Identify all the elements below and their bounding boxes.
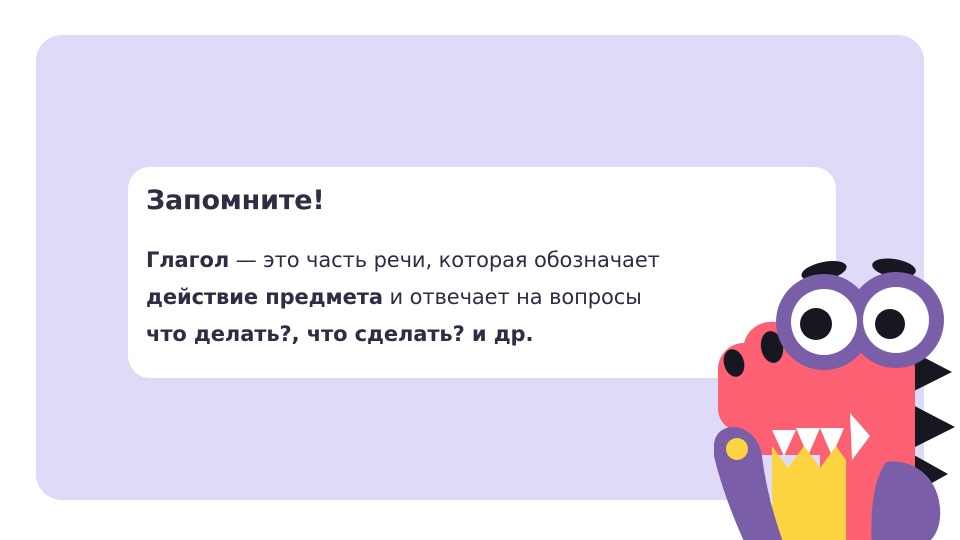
- slide-canvas: Запомните! Глагол — это часть речи, кото…: [0, 0, 960, 540]
- body-line-2: действие предмета и отвечает на вопросы: [146, 279, 818, 316]
- card-inner: Запомните! Глагол — это часть речи, кото…: [146, 186, 818, 353]
- body-line-1: Глагол — это часть речи, которая обознач…: [146, 242, 818, 279]
- card-heading: Запомните!: [146, 186, 818, 216]
- body-line-1-rest: — это часть речи, которая обозначает: [229, 248, 660, 272]
- content-card: Запомните! Глагол — это часть речи, кото…: [128, 167, 836, 378]
- body-line-3-bold: что делать?, что сделать? и др.: [146, 322, 533, 346]
- body-line-2-rest: и отвечает на вопросы: [383, 285, 642, 309]
- body-line-3: что делать?, что сделать? и др.: [146, 316, 818, 353]
- card-body-text: Глагол — это часть речи, которая обознач…: [146, 242, 818, 353]
- body-line-2-bold: действие предмета: [146, 285, 383, 309]
- body-line-1-bold: Глагол: [146, 248, 229, 272]
